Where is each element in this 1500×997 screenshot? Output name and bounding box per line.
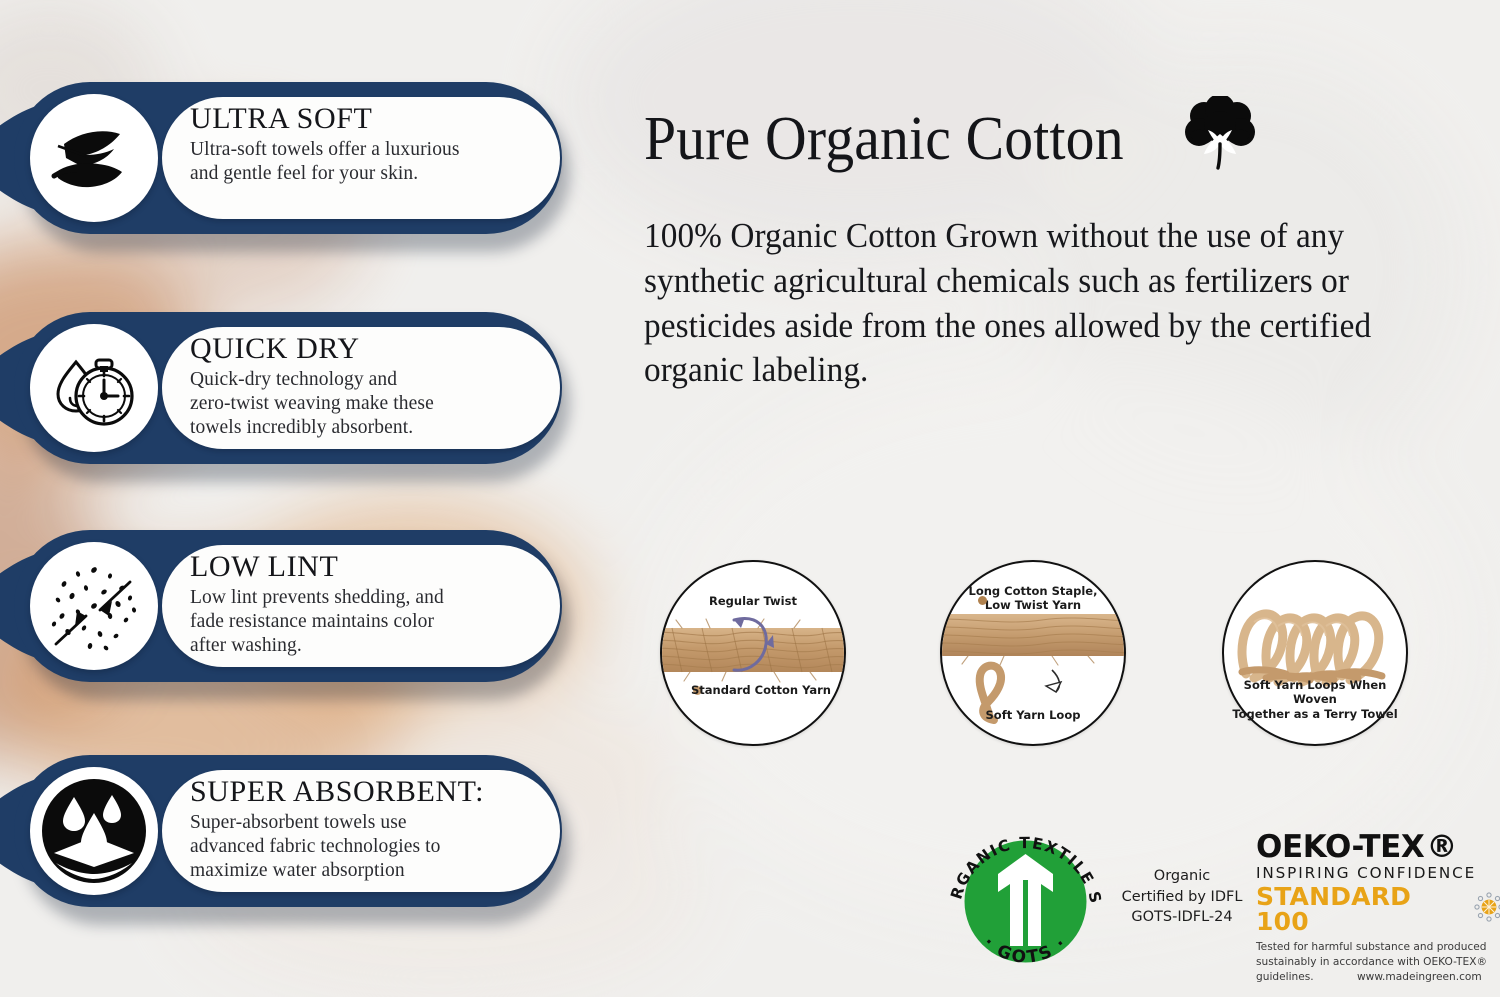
feature-title: ULTRA SOFT bbox=[190, 104, 540, 134]
yarn-top-label: Long Cotton Staple, Low Twist Yarn bbox=[940, 584, 1126, 613]
feature-list: ULTRA SOFT Ultra-soft towels offer a lux… bbox=[0, 0, 600, 997]
infographic-canvas: ULTRA SOFT Ultra-soft towels offer a lux… bbox=[0, 0, 1500, 997]
oeko-fine-print: Tested for harmful substance and produce… bbox=[1256, 940, 1500, 985]
yarn-bullet-dot bbox=[978, 596, 987, 605]
feature-card-super-absorbent[interactable]: SUPER ABSORBENT: Super-absorbent towels … bbox=[14, 755, 574, 925]
feature-description: Super-absorbent towels use advanced fabr… bbox=[190, 811, 540, 882]
feature-description: Low lint prevents shedding, and fade res… bbox=[190, 586, 540, 657]
certification-row: GLOBAL ORGANIC TEXTILE STANDARD · GOTS ·… bbox=[640, 800, 1500, 990]
yarn-top-label: Regular Twist bbox=[660, 594, 846, 608]
feature-title: QUICK DRY bbox=[190, 334, 540, 364]
oeko-tex-title: OEKO-TEX ® bbox=[1256, 832, 1500, 863]
body-paragraph: 100% Organic Cotton Grown without the us… bbox=[644, 214, 1433, 393]
feature-card-quick-dry[interactable]: QUICK DRY Quick-dry technology and zero-… bbox=[14, 312, 574, 482]
feature-text: ULTRA SOFT Ultra-soft towels offer a lux… bbox=[190, 104, 540, 186]
oeko-standard-label: STANDARD 100 bbox=[1256, 884, 1464, 934]
oeko-tex-wordmark: OEKO-TEX bbox=[1256, 832, 1424, 863]
gots-caption-line3: GOTS-IDFL-24 bbox=[1112, 907, 1252, 928]
feature-text: QUICK DRY Quick-dry technology and zero-… bbox=[190, 334, 540, 439]
feather-in-hand-icon bbox=[30, 94, 158, 222]
feature-text: LOW LINT Low lint prevents shedding, and… bbox=[190, 552, 540, 657]
page-title: Pure Organic Cotton bbox=[644, 108, 1124, 170]
feature-title: LOW LINT bbox=[190, 552, 540, 582]
right-column: Pure Organic Cotton bbox=[640, 0, 1500, 997]
feature-title: SUPER ABSORBENT: bbox=[190, 777, 540, 807]
feature-text: SUPER ABSORBENT: Super-absorbent towels … bbox=[190, 777, 540, 882]
feature-card-ultra-soft[interactable]: ULTRA SOFT Ultra-soft towels offer a lux… bbox=[14, 82, 574, 252]
yarn-bottom-label: Soft Yarn Loop bbox=[940, 708, 1126, 722]
droplet-stopwatch-icon bbox=[30, 324, 158, 452]
gots-caption-line1: Organic bbox=[1112, 866, 1252, 887]
lint-particles-icon bbox=[30, 542, 158, 670]
water-absorption-icon bbox=[30, 767, 158, 895]
feature-description: Ultra-soft towels offer a luxurious and … bbox=[190, 138, 540, 186]
feature-card-low-lint[interactable]: LOW LINT Low lint prevents shedding, and… bbox=[14, 530, 574, 700]
feature-description: Quick-dry technology and zero-twist weav… bbox=[190, 368, 540, 439]
oeko-sunburst-icon bbox=[1474, 892, 1500, 927]
yarn-bottom-label: Standard Cotton Yarn bbox=[668, 683, 854, 697]
registered-mark-icon: ® bbox=[1426, 832, 1457, 863]
gots-certification-caption: Organic Certified by IDFL GOTS-IDFL-24 bbox=[1112, 866, 1252, 928]
yarn-diagram-row: Regular Twist Standard Cotton Yarn bbox=[640, 560, 1500, 760]
yarn-diagram-regular-twist: Regular Twist Standard Cotton Yarn bbox=[660, 560, 846, 746]
gots-seal-icon: GLOBAL ORGANIC TEXTILE STANDARD · GOTS · bbox=[938, 814, 1113, 989]
oeko-tex-block: OEKO-TEX ® INSPIRING CONFIDENCE STANDARD… bbox=[1256, 832, 1500, 985]
oeko-url: www.madeingreen.com bbox=[1357, 971, 1482, 983]
regular-twist-yarn-icon bbox=[660, 560, 846, 746]
yarn-diagram-low-twist: Long Cotton Staple, Low Twist Yarn Soft … bbox=[940, 560, 1126, 746]
gots-caption-line2: Certified by IDFL bbox=[1112, 887, 1252, 908]
yarn-bottom-label: Soft Yarn Loops When Woven Together as a… bbox=[1222, 678, 1408, 721]
oeko-standard-row: STANDARD 100 bbox=[1256, 884, 1500, 934]
oeko-tex-subtitle: INSPIRING CONFIDENCE bbox=[1256, 866, 1500, 881]
yarn-diagram-terry-loops: Soft Yarn Loops When Woven Together as a… bbox=[1222, 560, 1408, 746]
headline-row: Pure Organic Cotton bbox=[644, 96, 1258, 181]
cotton-boll-icon bbox=[1182, 96, 1258, 175]
